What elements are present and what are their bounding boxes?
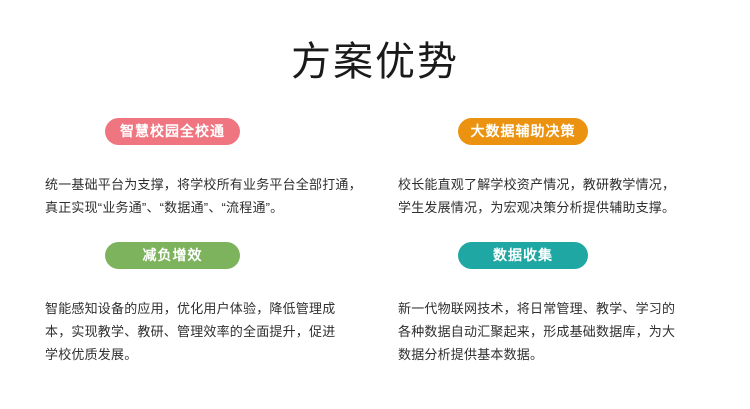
badge-wrap-data-collection: 数据收集: [398, 242, 718, 269]
badge-big-data-decision[interactable]: 大数据辅助决策: [458, 118, 588, 145]
badge-wrap-smart-campus: 智慧校园全校通: [45, 118, 365, 145]
advantages-row-2: 减负增效 智能感知设备的应用，优化用户体验，降低管理成 本，实现教学、教研、管理…: [0, 242, 750, 366]
advantage-card-smart-campus: 智慧校园全校通 统一基础平台为支撑，将学校所有业务平台全部打通， 真正实现“业务…: [45, 118, 365, 219]
badge-wrap-burden-reduction: 减负增效: [45, 242, 365, 269]
body-line: 统一基础平台为支撑，将学校所有业务平台全部打通，: [45, 173, 345, 196]
advantages-row-1: 智慧校园全校通 统一基础平台为支撑，将学校所有业务平台全部打通， 真正实现“业务…: [0, 118, 750, 242]
body-line: 智能感知设备的应用，优化用户体验，降低管理成: [45, 297, 345, 320]
body-text-burden-reduction: 智能感知设备的应用，优化用户体验，降低管理成 本，实现教学、教研、管理效率的全面…: [45, 297, 345, 366]
body-line: 学校优质发展。: [45, 343, 345, 366]
badge-wrap-big-data-decision: 大数据辅助决策: [398, 118, 718, 145]
body-line: 数据分析提供基本数据。: [398, 343, 698, 366]
advantage-card-burden-reduction: 减负增效 智能感知设备的应用，优化用户体验，降低管理成 本，实现教学、教研、管理…: [45, 242, 365, 366]
advantage-card-data-collection: 数据收集 新一代物联网技术，将日常管理、教学、学习的 各种数据自动汇聚起来，形成…: [398, 242, 718, 366]
body-line: 新一代物联网技术，将日常管理、教学、学习的: [398, 297, 698, 320]
body-line: 校长能直观了解学校资产情况，教研教学情况，: [398, 173, 698, 196]
advantage-card-big-data-decision: 大数据辅助决策 校长能直观了解学校资产情况，教研教学情况， 学生发展情况，为宏观…: [398, 118, 718, 219]
page-title: 方案优势: [0, 36, 750, 88]
badge-smart-campus[interactable]: 智慧校园全校通: [105, 118, 240, 145]
badge-data-collection[interactable]: 数据收集: [458, 242, 588, 269]
body-line: 学生发展情况，为宏观决策分析提供辅助支撑。: [398, 196, 698, 219]
body-line: 真正实现“业务通”、“数据通”、“流程通”。: [45, 196, 345, 219]
body-text-smart-campus: 统一基础平台为支撑，将学校所有业务平台全部打通， 真正实现“业务通”、“数据通”…: [45, 173, 345, 219]
body-line: 各种数据自动汇聚起来，形成基础数据库，为大: [398, 320, 698, 343]
advantages-grid: 智慧校园全校通 统一基础平台为支撑，将学校所有业务平台全部打通， 真正实现“业务…: [0, 118, 750, 366]
badge-burden-reduction[interactable]: 减负增效: [105, 242, 240, 269]
body-text-data-collection: 新一代物联网技术，将日常管理、教学、学习的 各种数据自动汇聚起来，形成基础数据库…: [398, 297, 698, 366]
slide-canvas: 方案优势 智慧校园全校通 统一基础平台为支撑，将学校所有业务平台全部打通， 真正…: [0, 0, 750, 409]
body-line: 本，实现教学、教研、管理效率的全面提升，促进: [45, 320, 345, 343]
body-text-big-data-decision: 校长能直观了解学校资产情况，教研教学情况， 学生发展情况，为宏观决策分析提供辅助…: [398, 173, 698, 219]
